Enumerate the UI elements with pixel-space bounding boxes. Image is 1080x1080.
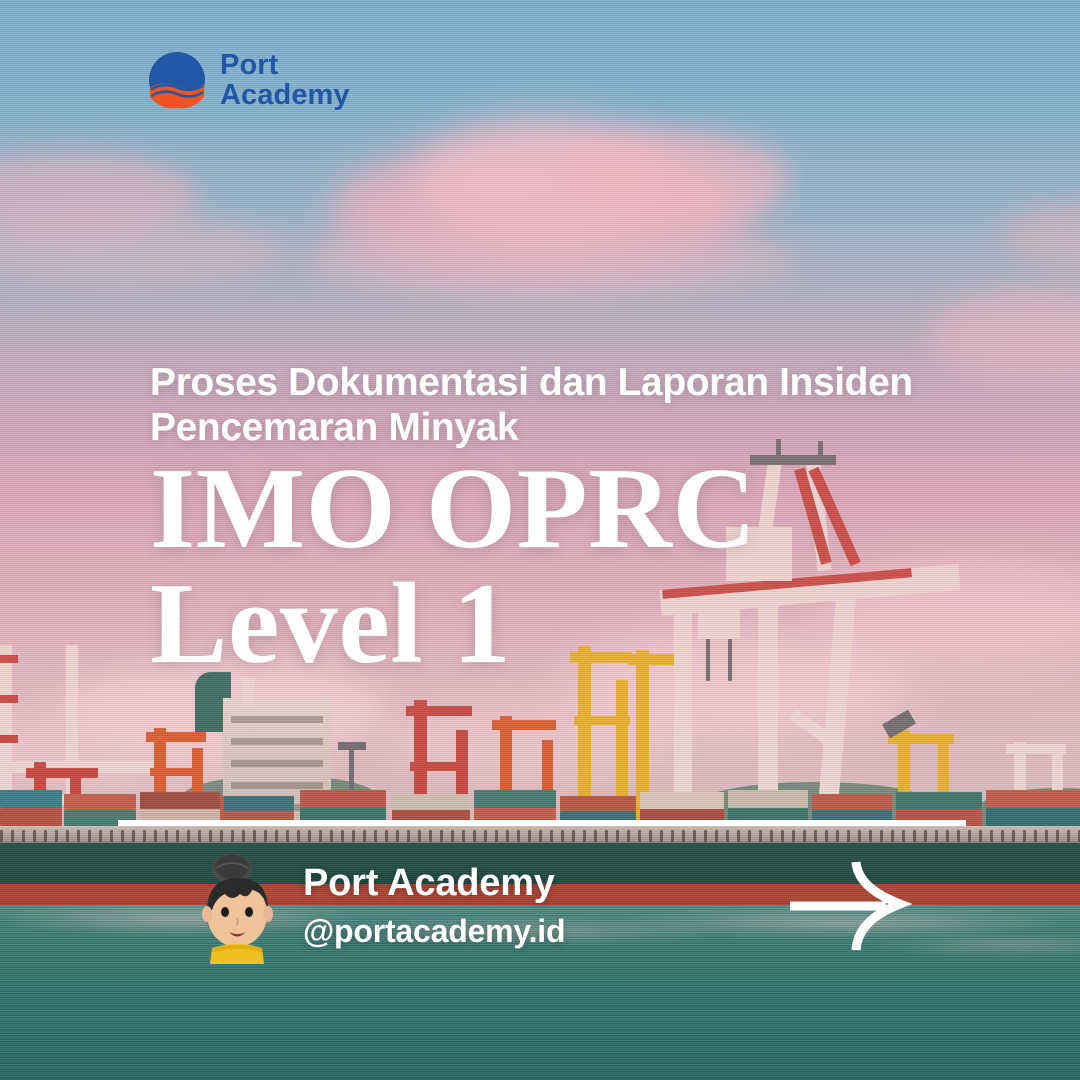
social-post-card: Port Academy Proses Dokumentasi dan Lapo… <box>0 0 1080 1080</box>
course-subtitle: Proses Dokumentasi dan Laporan Insiden P… <box>150 360 1030 450</box>
container-stack <box>64 794 136 810</box>
port-academy-circle-wave-logo-icon <box>148 51 206 109</box>
cloud <box>300 225 800 295</box>
container-stack <box>0 808 62 826</box>
container-stack <box>640 792 724 809</box>
container-stack <box>140 792 220 809</box>
container-stack <box>728 790 808 808</box>
container-stack <box>224 796 294 811</box>
container-stack <box>392 794 470 810</box>
logo-line-2: Academy <box>220 80 350 110</box>
logo-line-1: Port <box>220 50 350 80</box>
course-title-line-2: Level 1 <box>150 567 1050 682</box>
port-academy-logo[interactable]: Port Academy <box>148 50 350 110</box>
course-title-line-1: IMO OPRC <box>150 452 1050 567</box>
container-stack <box>300 790 386 808</box>
avatar <box>192 852 284 964</box>
account-handle[interactable]: @portacademy.id <box>303 913 565 950</box>
container-stack <box>986 808 1080 826</box>
right-arrow-swipe-icon[interactable] <box>790 858 920 954</box>
container-stack <box>896 792 982 809</box>
container-stack <box>0 790 62 808</box>
container-stack <box>986 790 1080 808</box>
course-title: IMO OPRC Level 1 <box>150 452 1050 682</box>
footer-divider <box>118 820 966 826</box>
container-stack <box>812 794 892 810</box>
ship-railing <box>0 830 1080 842</box>
container-stack <box>560 796 636 811</box>
container-stack <box>474 790 556 808</box>
cloud <box>560 130 790 226</box>
logo-wordmark: Port Academy <box>220 50 350 110</box>
account-name: Port Academy <box>303 862 555 905</box>
